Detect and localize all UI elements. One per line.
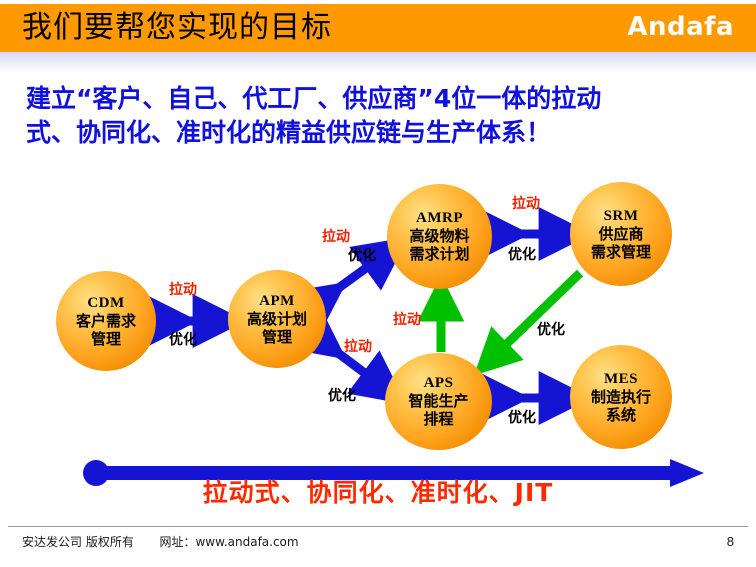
edge-label-amrp-srm-pull: 拉动 xyxy=(512,196,540,212)
edge-label-cdm-apm-opt: 优化 xyxy=(169,332,197,348)
node-cdm[interactable]: CDM 客户需求 管理 xyxy=(56,271,156,371)
brand-logo: Andafa xyxy=(627,12,734,42)
subtitle-line-1: 建立“客户、自己、代工厂、供应商”4位一体的拉动 xyxy=(26,82,726,116)
edge-label-amrp-srm-opt: 优化 xyxy=(508,247,536,263)
footer-divider xyxy=(8,526,748,527)
supply-chain-diagram: CDM 客户需求 管理 APM 高级计划 管理 AMRP 高级物料 需求计划 S… xyxy=(0,160,756,480)
node-aps-line1: 智能生产 xyxy=(408,392,468,410)
node-amrp-code: AMRP xyxy=(416,210,463,227)
node-aps-code: APS xyxy=(424,375,454,392)
footer-site: 网址：www.andafa.com xyxy=(159,535,298,549)
node-cdm-line1: 客户需求 xyxy=(76,312,136,330)
edge-label-cdm-apm-pull: 拉动 xyxy=(169,282,197,298)
node-apm-line2: 管理 xyxy=(262,328,292,346)
edge-label-srm-aps-opt: 优化 xyxy=(537,322,565,338)
node-amrp[interactable]: AMRP 高级物料 需求计划 xyxy=(387,184,492,289)
edge-label-apm-aps-pull: 拉动 xyxy=(344,339,372,355)
node-apm-line1: 高级计划 xyxy=(247,310,307,328)
page-number: 8 xyxy=(727,534,734,550)
header-gradient-divider xyxy=(0,52,756,74)
node-mes-line1: 制造执行 xyxy=(591,388,651,406)
subtitle: 建立“客户、自己、代工厂、供应商”4位一体的拉动 式、协同化、准时化的精益供应链… xyxy=(26,82,726,150)
node-apm[interactable]: APM 高级计划 管理 xyxy=(228,270,326,368)
node-apm-code: APM xyxy=(259,293,295,310)
node-mes-code: MES xyxy=(604,371,638,388)
node-srm[interactable]: SRM 供应商 需求管理 xyxy=(570,182,672,286)
node-mes-line2: 系统 xyxy=(606,406,636,424)
edge-label-apm-amrp-pull: 拉动 xyxy=(322,229,350,245)
node-cdm-code: CDM xyxy=(87,295,124,312)
bottom-caption: 拉动式、协同化、准时化、JIT xyxy=(0,478,756,508)
node-aps[interactable]: APS 智能生产 排程 xyxy=(385,353,492,450)
node-srm-line2: 需求管理 xyxy=(591,243,651,261)
slide-root: 我们要帮您实现的目标 Andafa 建立“客户、自己、代工厂、供应商”4位一体的… xyxy=(0,0,756,567)
edge-label-apm-amrp-opt: 优化 xyxy=(348,248,376,264)
edge-label-aps-mes-opt: 优化 xyxy=(508,410,536,426)
node-aps-line2: 排程 xyxy=(423,410,453,428)
node-mes[interactable]: MES 制造执行 系统 xyxy=(570,345,672,449)
node-amrp-line1: 高级物料 xyxy=(409,227,469,245)
footer-copyright: 安达发公司 版权所有 网址：www.andafa.com xyxy=(22,534,299,550)
edge-srm-aps-green xyxy=(492,273,580,358)
edge-label-apm-aps-opt: 优化 xyxy=(328,388,356,404)
subtitle-line-2: 式、协同化、准时化的精益供应链与生产体系！ xyxy=(26,116,726,150)
edge-label-aps-amrp-pull: 拉动 xyxy=(393,312,421,328)
node-cdm-line2: 管理 xyxy=(91,330,121,348)
node-srm-code: SRM xyxy=(604,208,639,225)
node-srm-line1: 供应商 xyxy=(598,225,643,243)
node-amrp-line2: 需求计划 xyxy=(409,245,469,263)
footer-copyright-text: 安达发公司 版权所有 xyxy=(22,535,134,549)
page-title: 我们要帮您实现的目标 xyxy=(22,10,332,46)
